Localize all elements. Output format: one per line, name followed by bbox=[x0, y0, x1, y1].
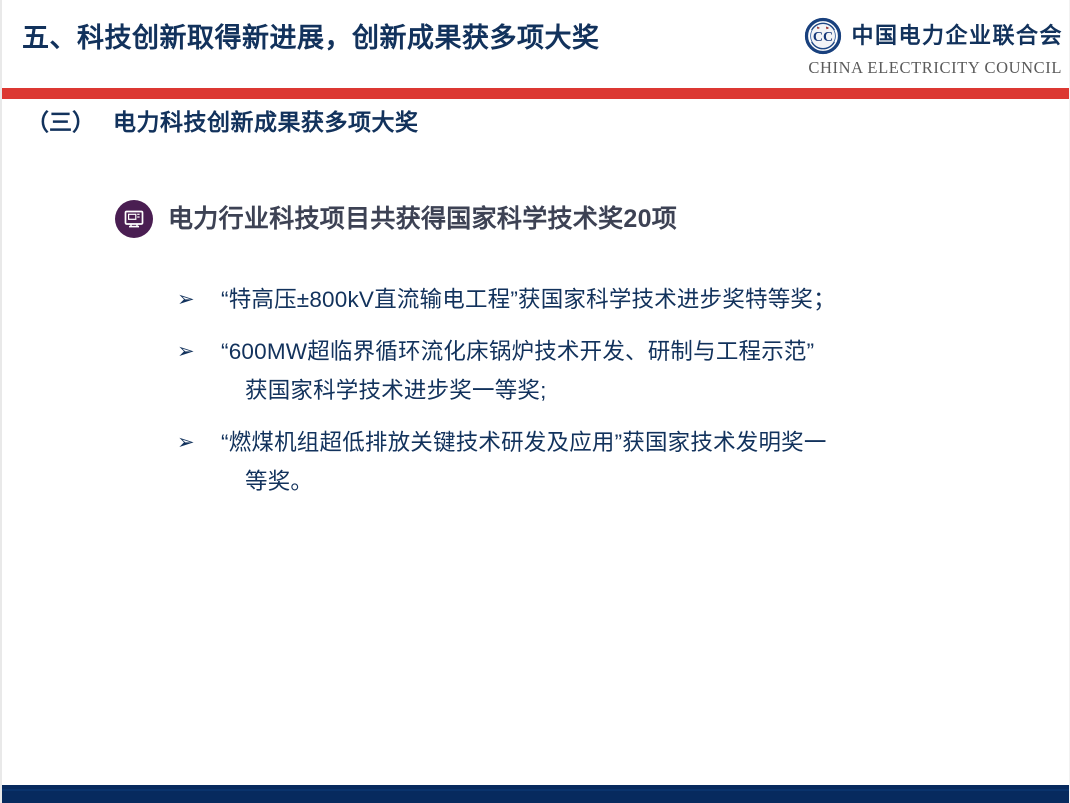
slide-header: 五、科技创新取得新进展，创新成果获多项大奖 CC 中国电力企业联合会 bbox=[2, 0, 1069, 88]
list-item-body: “特高压±800kV直流输电工程”获国家科学技术进步奖特等奖； bbox=[221, 280, 1069, 319]
arrow-bullet-icon: ➢ bbox=[177, 423, 221, 462]
brand-row: CC 中国电力企业联合会 bbox=[804, 17, 1063, 55]
list-item-line: “特高压±800kV直流输电工程”获国家科学技术进步奖特等奖； bbox=[221, 280, 1069, 319]
brand-logo: CC 中国电力企业联合会 CHINA ELECTRICITY COUNCIL bbox=[804, 17, 1063, 77]
list-item: ➢ “特高压±800kV直流输电工程”获国家科学技术进步奖特等奖； bbox=[177, 280, 1069, 319]
lead-heading-text: 电力行业科技项目共获得国家科学技术奖20项 bbox=[168, 204, 677, 234]
section-subtitle: （三）电力科技创新成果获多项大奖 bbox=[26, 108, 419, 137]
cec-emblem-icon: CC bbox=[804, 17, 842, 55]
lead-heading: 电力行业科技项目共获得国家科学技术奖20项 bbox=[115, 200, 1069, 238]
list-item: ➢ “燃煤机组超低排放关键技术研发及应用”获国家技术发明奖一 等奖。 bbox=[177, 423, 1069, 501]
svg-text:CC: CC bbox=[813, 30, 833, 45]
section-title: 电力科技创新成果获多项大奖 bbox=[113, 109, 419, 135]
brand-name-cn: 中国电力企业联合会 bbox=[851, 25, 1063, 47]
list-item-body: “燃煤机组超低排放关键技术研发及应用”获国家技术发明奖一 等奖。 bbox=[221, 423, 1069, 501]
list-item-line: 获国家科学技术进步奖一等奖; bbox=[221, 371, 1069, 410]
slide-body: 电力行业科技项目共获得国家科学技术奖20项 ➢ “特高压±800kV直流输电工程… bbox=[2, 200, 1069, 514]
page-title: 五、科技创新取得新进展，创新成果获多项大奖 bbox=[22, 22, 600, 54]
footer-sheen bbox=[2, 789, 1069, 791]
section-number: （三） bbox=[26, 109, 95, 135]
brand-name-en: CHINA ELECTRICITY COUNCIL bbox=[808, 60, 1062, 77]
list-item: ➢ “600MW超临界循环流化床锅炉技术开发、研制与工程示范” 获国家科学技术进… bbox=[177, 332, 1069, 410]
monitor-icon bbox=[115, 200, 153, 238]
list-item-body: “600MW超临界循环流化床锅炉技术开发、研制与工程示范” 获国家科学技术进步奖… bbox=[221, 332, 1069, 410]
list-item-line: “600MW超临界循环流化床锅炉技术开发、研制与工程示范” bbox=[221, 332, 1069, 371]
bullet-list: ➢ “特高压±800kV直流输电工程”获国家科学技术进步奖特等奖； ➢ “600… bbox=[177, 280, 1069, 501]
list-item-line: “燃煤机组超低排放关键技术研发及应用”获国家技术发明奖一 bbox=[221, 423, 1069, 462]
list-item-line: 等奖。 bbox=[221, 462, 1069, 501]
arrow-bullet-icon: ➢ bbox=[177, 332, 221, 371]
slide: 五、科技创新取得新进展，创新成果获多项大奖 CC 中国电力企业联合会 bbox=[0, 0, 1070, 803]
header-divider bbox=[2, 88, 1069, 99]
arrow-bullet-icon: ➢ bbox=[177, 280, 221, 319]
footer-bar bbox=[2, 785, 1069, 803]
